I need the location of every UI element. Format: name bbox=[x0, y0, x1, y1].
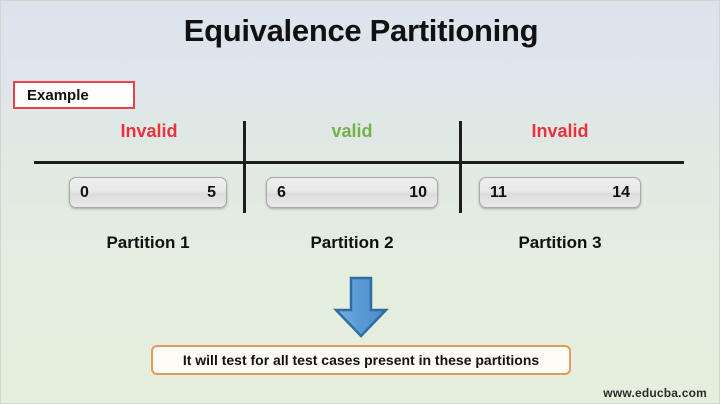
axis-line bbox=[34, 161, 684, 164]
diagram-canvas: Equivalence Partitioning Example Invalid… bbox=[0, 0, 720, 404]
partition-1-min-value: 0 bbox=[80, 184, 89, 202]
partition-1-caption: Partition 1 bbox=[69, 233, 227, 253]
partition-2-min-value: 6 bbox=[277, 184, 286, 202]
partition-1-state-label: Invalid bbox=[69, 121, 229, 142]
partition-3-caption: Partition 3 bbox=[479, 233, 641, 253]
footer-url: www.educba.com bbox=[603, 386, 707, 400]
partition-1-range-box: 0 5 bbox=[69, 177, 227, 208]
partition-divider-1 bbox=[243, 121, 246, 213]
partition-3-state-label: Invalid bbox=[479, 121, 641, 142]
page-title: Equivalence Partitioning bbox=[1, 13, 720, 49]
partition-2-caption: Partition 2 bbox=[266, 233, 438, 253]
partition-2-range-box: 6 10 bbox=[266, 177, 438, 208]
partition-2-max-value: 10 bbox=[409, 184, 427, 202]
example-badge-label: Example bbox=[27, 87, 89, 104]
example-badge: Example bbox=[13, 81, 135, 109]
partition-3-min-value: 11 bbox=[490, 184, 507, 202]
conclusion-text: It will test for all test cases present … bbox=[183, 352, 539, 368]
partition-divider-2 bbox=[459, 121, 462, 213]
arrow-down-icon bbox=[331, 276, 391, 339]
partition-3-range-box: 11 14 bbox=[479, 177, 641, 208]
conclusion-box: It will test for all test cases present … bbox=[151, 345, 571, 375]
partition-1-max-value: 5 bbox=[207, 184, 216, 202]
partition-3-max-value: 14 bbox=[612, 184, 630, 202]
partition-2-state-label: valid bbox=[266, 121, 438, 142]
